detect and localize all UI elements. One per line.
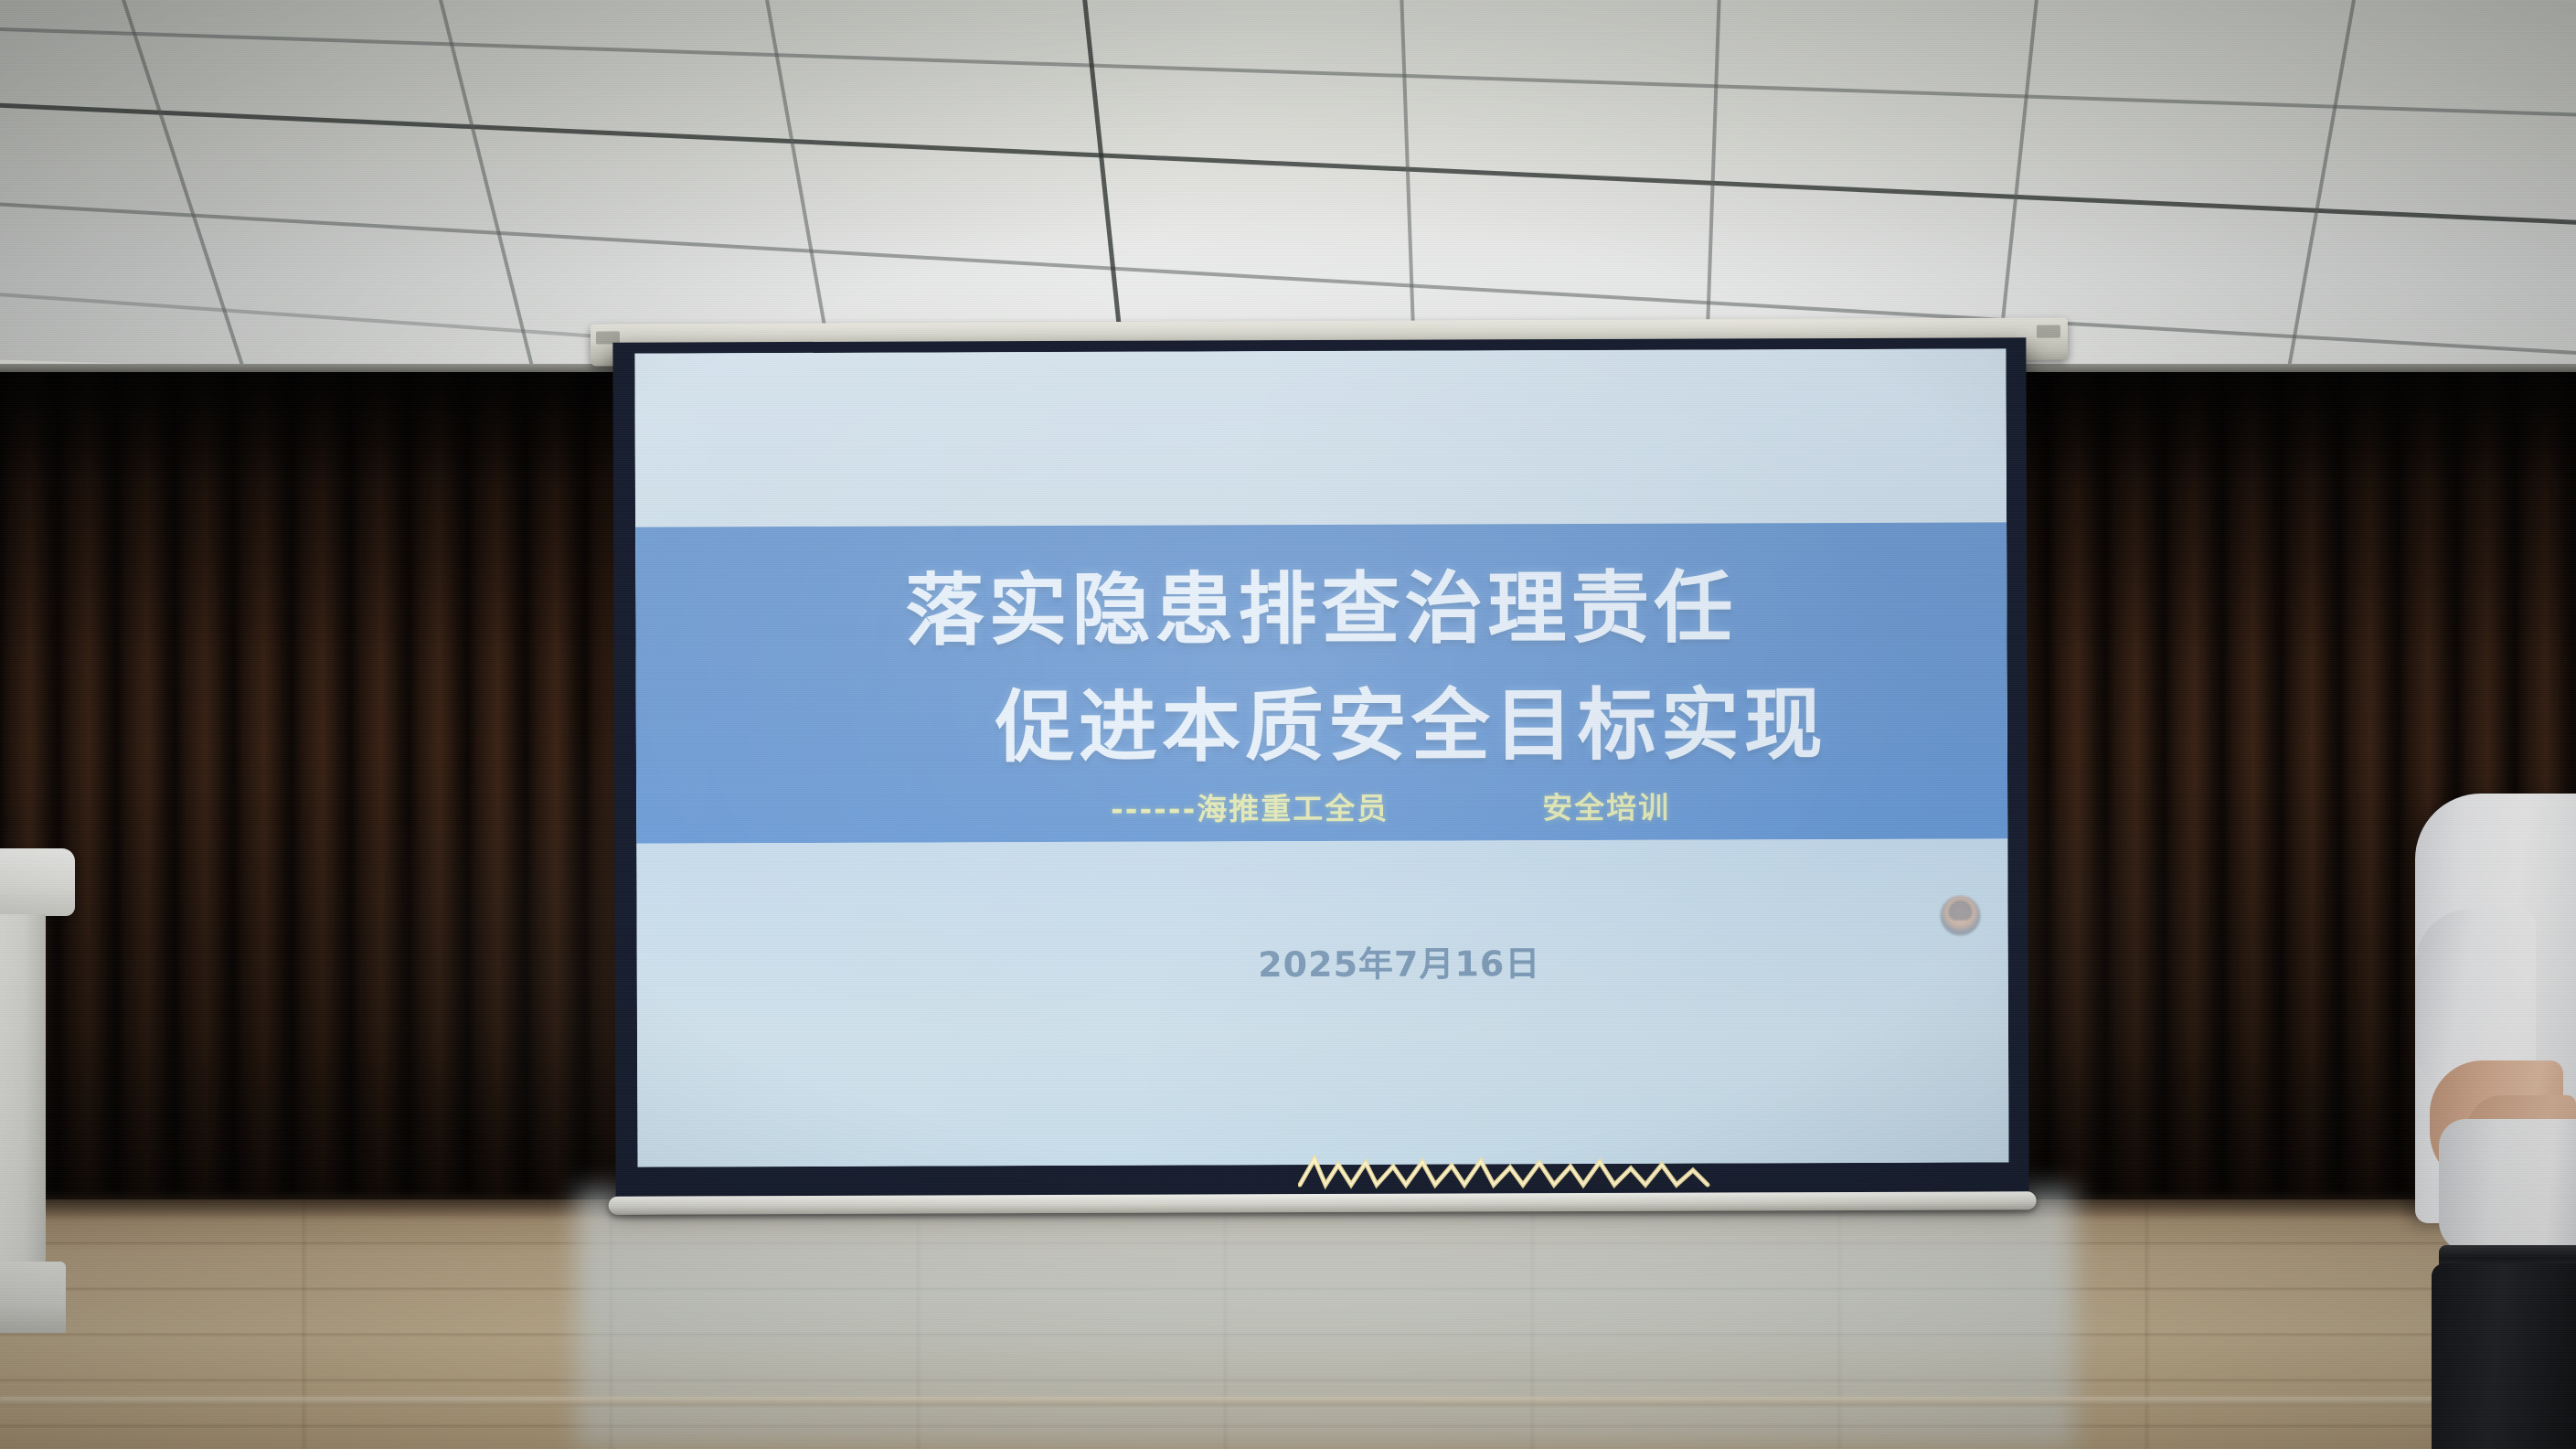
photo-scene: 落实隐患排查治理责任 促进本质安全目标实现 ------海推重工全员 安全培训 … [0,0,2576,1449]
slide-subtitle-row: ------海推重工全员 安全培训 [636,782,2007,830]
slide-subtitle-left: ------海推重工全员 [1111,784,1389,829]
lectern[interactable] [0,848,75,1333]
presenter-avatar-icon [1940,895,1980,935]
floor-front-edge [0,1397,2576,1406]
lectern-top [0,848,75,916]
projection-screen[interactable]: 落实隐患排查治理责任 促进本质安全目标实现 ------海推重工全员 安全培训 … [612,337,2028,1201]
slide-title-line-2: 促进本质安全目标实现 [636,659,2009,779]
slide-bottom-area [636,838,2008,1167]
standing-person [2415,794,2576,1449]
slide-top-area [634,348,2007,527]
lectern-base [0,1262,66,1333]
housing-endcap-right [2037,325,2060,338]
projector-light-spill [576,1188,2075,1449]
lectern-column [0,914,46,1269]
slide-title-line-1: 落实隐患排查治理责任 [635,542,2008,661]
slide-date: 2025年7月16日 [637,933,2008,988]
presentation-slide: 落实隐患排查治理责任 促进本质安全目标实现 ------海推重工全员 安全培训 … [634,348,2008,1167]
person-trousers [2432,1263,2576,1449]
screen-surface: 落实隐患排查治理责任 促进本质安全目标实现 ------海推重工全员 安全培训 … [634,348,2008,1167]
person-shirt-front [2439,1119,2576,1252]
slide-subtitle-right: 安全培训 [1542,783,1670,827]
